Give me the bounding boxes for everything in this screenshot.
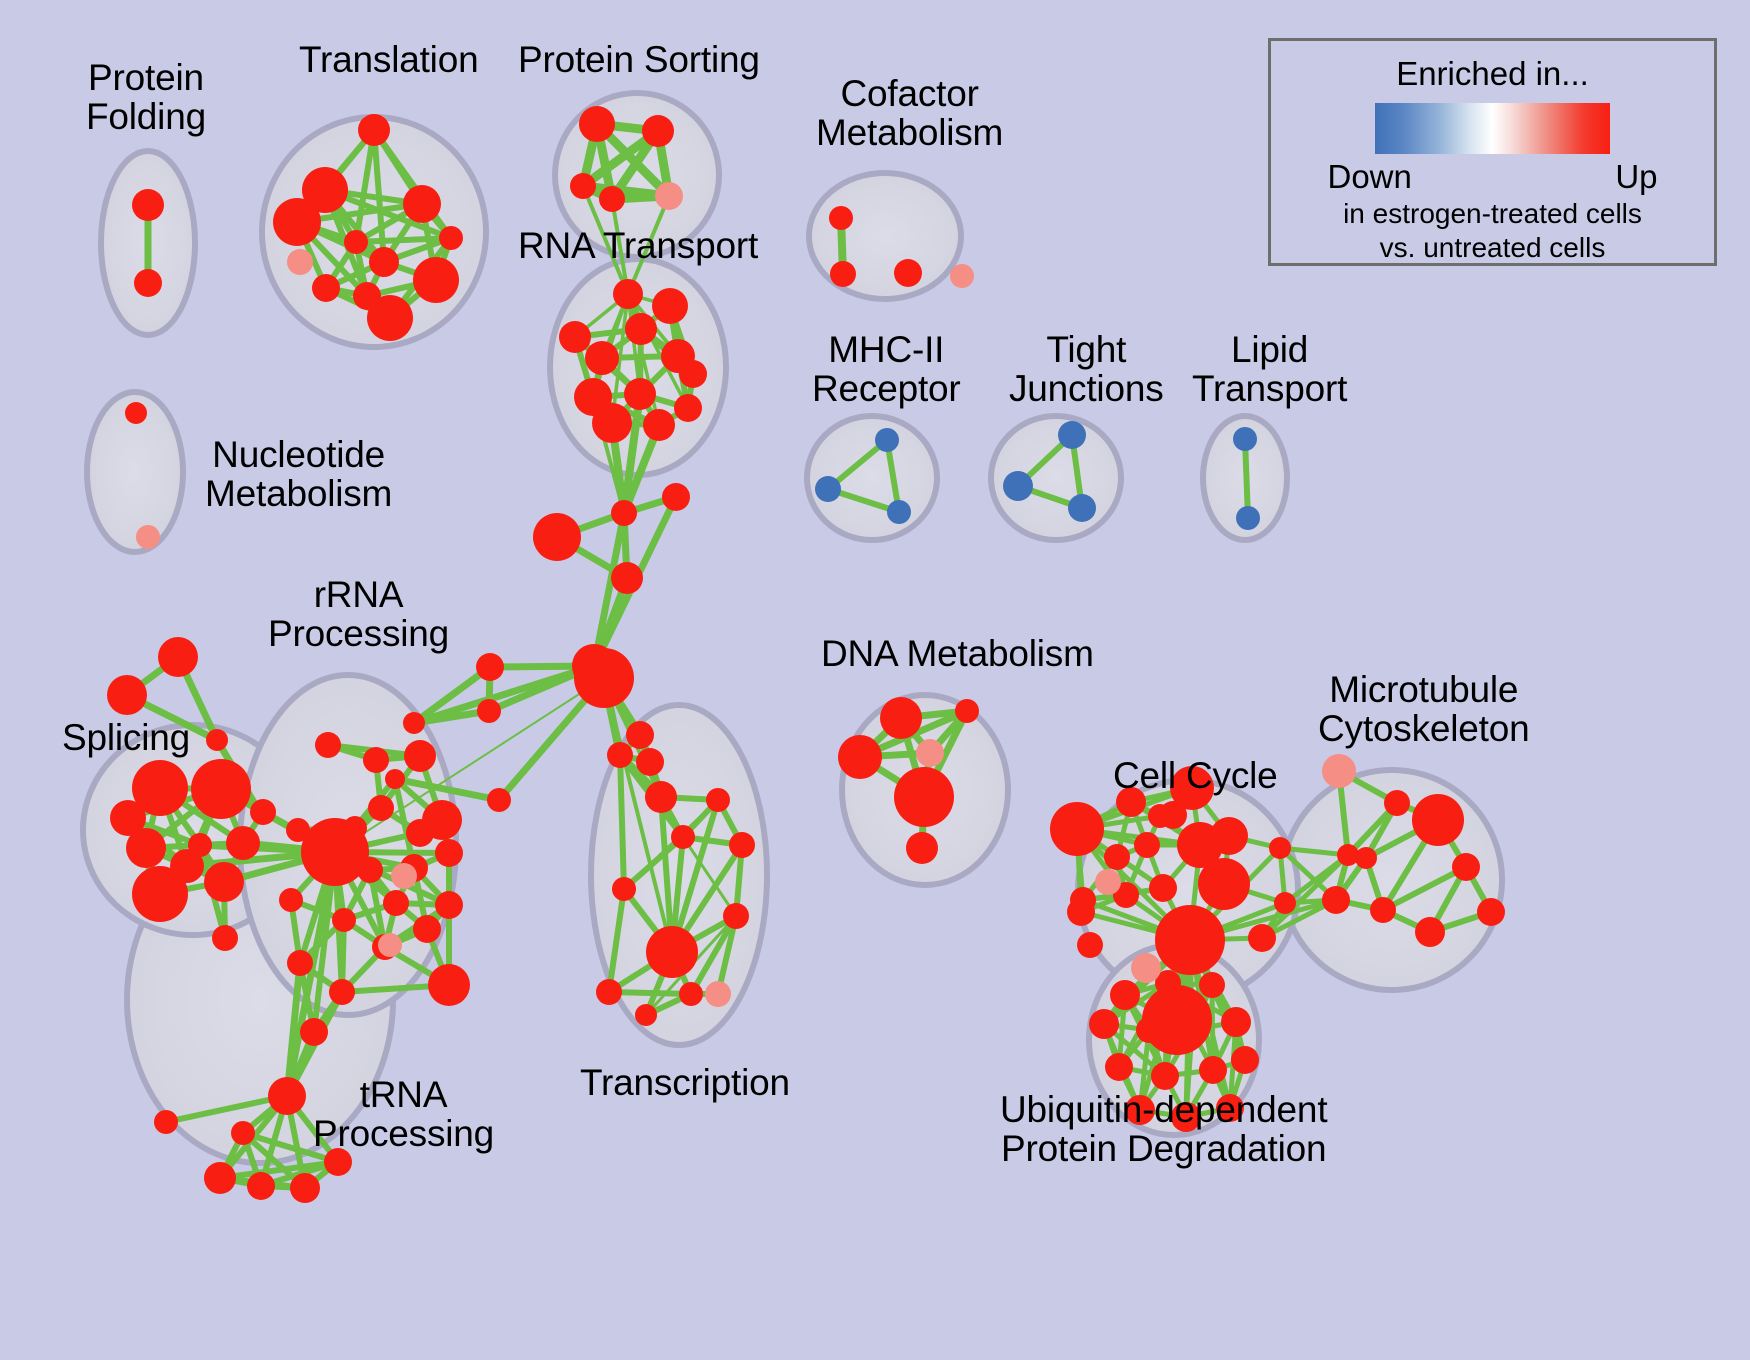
cluster-label-transcription: Transcription: [580, 1063, 790, 1102]
cluster-label-nucleotide-metabolism: Nucleotide Metabolism: [205, 435, 392, 513]
cluster-label-translation: Translation: [299, 40, 478, 79]
legend-subtitle-line-2: vs. untreated cells: [1380, 232, 1606, 263]
legend-low-label: Down: [1328, 158, 1412, 196]
legend-high-label: Up: [1615, 158, 1657, 196]
legend-panel: Enriched in... Down Up in estrogen-treat…: [1268, 38, 1717, 266]
cluster-label-protein-folding: Protein Folding: [86, 58, 206, 136]
cluster-label-rrna-processing: rRNA Processing: [268, 575, 449, 653]
cluster-label-lipid-transport: Lipid Transport: [1192, 330, 1347, 408]
legend-endpoint-labels: Down Up: [1328, 158, 1658, 196]
legend-subtitle-line-1: in estrogen-treated cells: [1343, 198, 1642, 229]
cluster-label-splicing: Splicing: [62, 718, 190, 757]
cluster-label-microtubule-cytoskeleton: Microtubule Cytoskeleton: [1318, 670, 1530, 748]
legend-color-gradient-bar: [1375, 103, 1610, 154]
cluster-label-rna-transport: RNA Transport: [518, 226, 758, 265]
cluster-label-cofactor-metabolism: Cofactor Metabolism: [816, 74, 1003, 152]
network-figure: Protein Folding Translation Protein Sort…: [0, 0, 1750, 1360]
cluster-label-cell-cycle: Cell Cycle: [1113, 756, 1278, 795]
cluster-label-ubiquitin-protein-degradation: Ubiquitin-dependent Protein Degradation: [1000, 1090, 1327, 1168]
cluster-label-dna-metabolism: DNA Metabolism: [821, 634, 1094, 673]
cluster-label-tight-junctions: Tight Junctions: [1009, 330, 1164, 408]
legend-title: Enriched in...: [1396, 55, 1589, 93]
cluster-label-trna-processing: tRNA Processing: [313, 1075, 494, 1153]
cluster-label-protein-sorting: Protein Sorting: [518, 40, 760, 79]
cluster-label-mhc-ii-receptor: MHC-II Receptor: [812, 330, 961, 408]
